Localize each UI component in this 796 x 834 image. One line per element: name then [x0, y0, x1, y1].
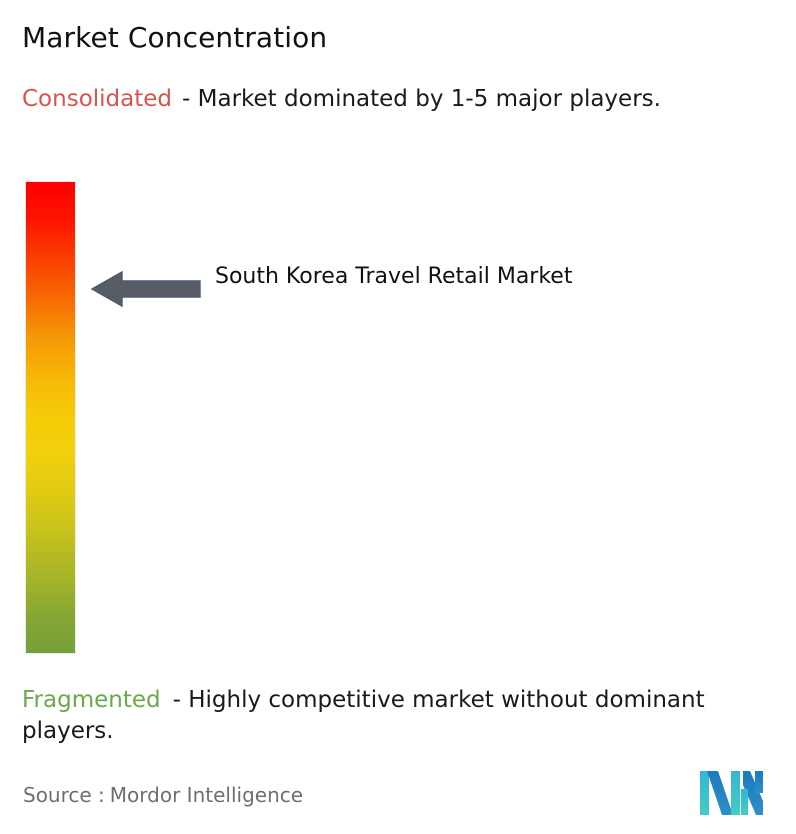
legend-consolidated-keyword: Consolidated	[22, 86, 172, 112]
callout-arrow-icon	[90, 266, 202, 312]
source-label: Source :	[23, 783, 105, 807]
market-concentration-chart: Market Concentration Consolidated- Marke…	[0, 0, 796, 834]
legend-fragmented: Fragmented- Highly competitive market wi…	[22, 685, 782, 747]
legend-consolidated-description: - Market dominated by 1-5 major players.	[182, 86, 661, 112]
source-value: Mordor Intelligence	[110, 783, 303, 807]
page-title: Market Concentration	[22, 20, 327, 56]
concentration-gradient-bar	[26, 182, 75, 653]
mordor-intelligence-logo-icon	[700, 771, 763, 815]
source-attribution: Source :Mordor Intelligence	[23, 782, 303, 808]
callout-label-text: South Korea Travel Retail Market	[215, 264, 572, 289]
legend-fragmented-keyword: Fragmented	[22, 687, 161, 713]
callout-label: South Korea Travel Retail Market	[215, 259, 635, 295]
legend-consolidated: Consolidated- Market dominated by 1-5 ma…	[22, 84, 774, 115]
